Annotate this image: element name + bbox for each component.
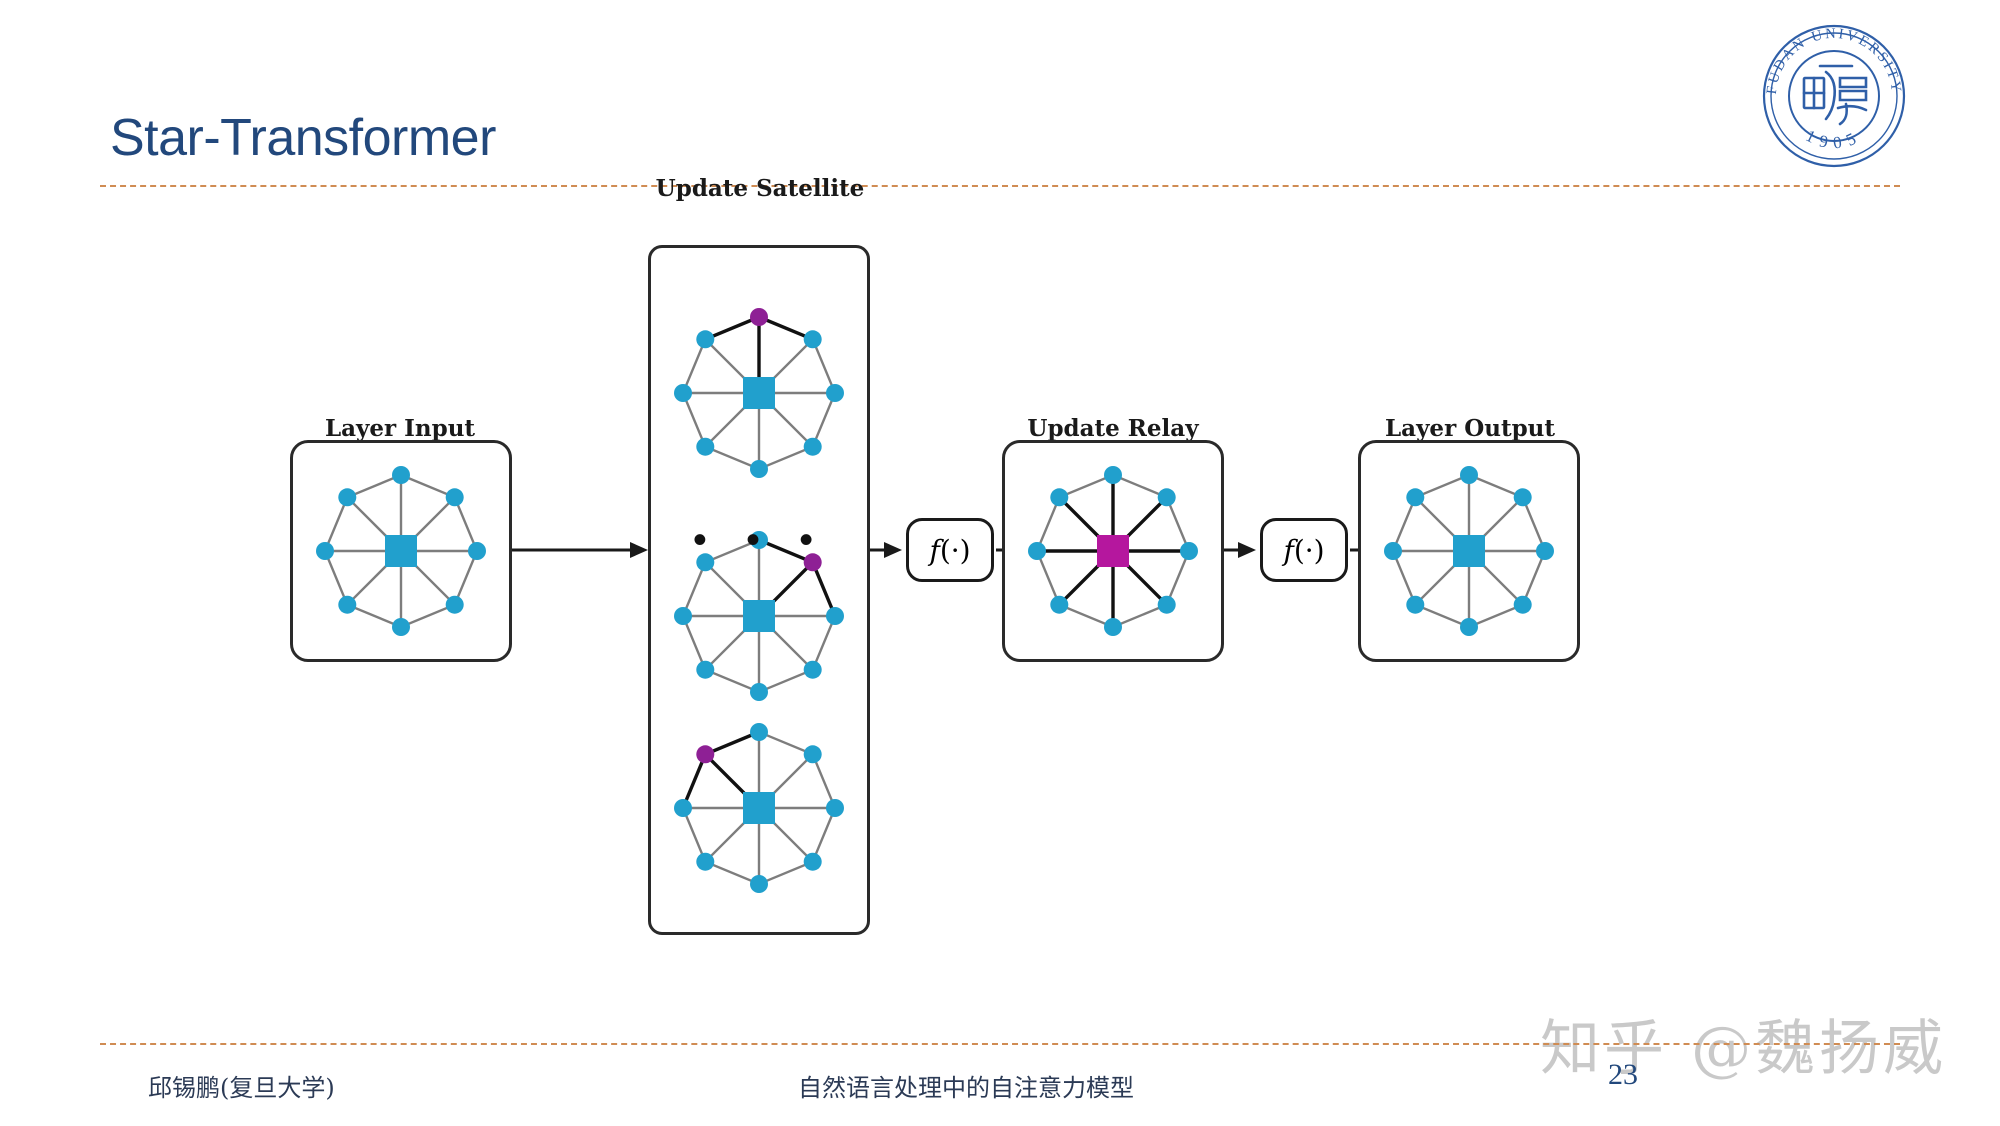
fudan-university-seal-icon: FUDAN UNIVERSITY 1905 [1760, 22, 1908, 170]
svg-text:1905: 1905 [1803, 126, 1865, 153]
footer-author: 邱锡鹏(复旦大学) [148, 1068, 335, 1103]
function-box-1: f(·) [906, 518, 994, 582]
function-box-2: f(·) [1260, 518, 1348, 582]
fn-symbol: f [929, 534, 939, 567]
fn-symbol: f [1283, 534, 1293, 567]
graph-satellite-3 [651, 700, 867, 916]
graph-update-relay [1005, 443, 1221, 659]
highlighted-satellite-node [750, 308, 768, 326]
arrow-relay-to-fn2 [1224, 535, 1256, 565]
panel-layer-input [290, 440, 512, 662]
footer-center-title: 自然语言处理中的自注意力模型 [798, 1068, 1134, 1103]
label-update-satellite: Update Satellite [656, 175, 865, 202]
relay-node [1453, 535, 1485, 567]
page-title: Star-Transformer [110, 108, 496, 168]
fn-args: (·) [1294, 534, 1325, 567]
footer-divider-rule [100, 1043, 1900, 1045]
highlighted-relay-node [1097, 535, 1129, 567]
graph-layer-input [293, 443, 509, 659]
panel-layer-output [1358, 440, 1580, 662]
title-divider-rule [100, 185, 1900, 187]
arrow-satellite-to-fn1 [870, 535, 902, 565]
highlighted-satellite-node [696, 745, 714, 763]
label-layer-input: Layer Input [325, 415, 475, 442]
slide-canvas: Star-Transformer FUDAN UNIVERSITY 1905 [0, 0, 2000, 1126]
panel-update-relay [1002, 440, 1224, 662]
relay-node [385, 535, 417, 567]
star-transformer-diagram: Update Satellite Layer Input Update Rela… [0, 190, 2000, 990]
ellipsis-indicator: • • • [693, 520, 827, 560]
graph-layer-output [1361, 443, 1577, 659]
arrow-input-to-satellite [512, 535, 648, 565]
panel-satellite-1 [651, 285, 867, 501]
label-layer-output: Layer Output [1385, 415, 1555, 442]
panel-satellite-3 [651, 700, 867, 916]
label-update-relay: Update Relay [1027, 415, 1198, 442]
graph-satellite-1 [651, 285, 867, 501]
fn-args: (·) [940, 534, 971, 567]
page-number: 23 [1608, 1058, 1638, 1092]
